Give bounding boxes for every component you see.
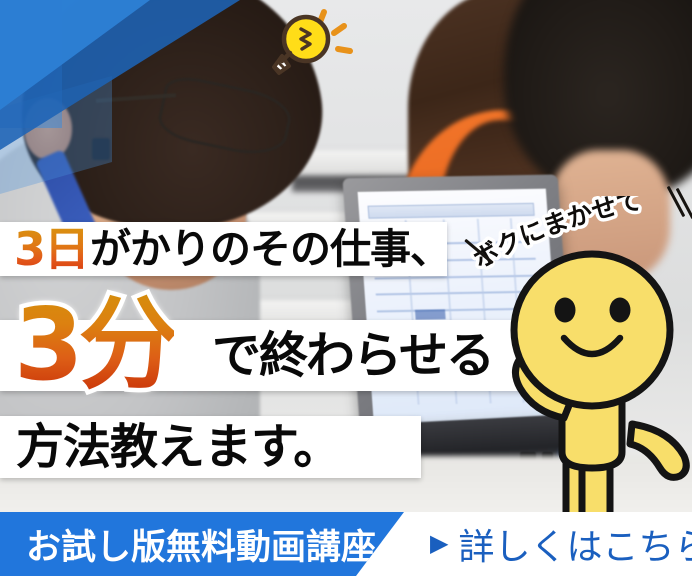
spreadsheet-selected-cell bbox=[415, 309, 446, 319]
headline-line-3: 方法教えます。 bbox=[0, 416, 421, 478]
spreadsheet-row bbox=[376, 291, 538, 296]
cta-bar: お試し版無料動画講座 ▶ 詳しくはこちら bbox=[0, 512, 692, 576]
lightbulb-icon bbox=[258, 6, 354, 82]
details-link[interactable]: ▶ 詳しくはこちら bbox=[404, 512, 692, 576]
headline-line-1: 3日 がかりのその仕事、 bbox=[0, 222, 447, 276]
corner-accent-shape-1 bbox=[0, 0, 150, 110]
headline-1-accent: 3日 bbox=[14, 226, 88, 272]
photo-foreground-neck bbox=[550, 150, 670, 280]
spreadsheet-header-row bbox=[368, 203, 535, 219]
headline-3-text: 方法教えます。 bbox=[16, 423, 340, 471]
headline-1-text: がかりのその仕事、 bbox=[90, 229, 450, 270]
headline-2-text: で終わらせる bbox=[212, 331, 493, 380]
headline-line-2: で終わらせる bbox=[0, 320, 527, 391]
details-link-label: 詳しくはこちら bbox=[458, 518, 692, 570]
free-trial-course-label: お試し版無料動画講座 bbox=[26, 519, 376, 570]
free-trial-course-button[interactable]: お試し版無料動画講座 bbox=[0, 512, 404, 576]
spreadsheet-row bbox=[377, 308, 539, 313]
play-triangle-icon: ▶ bbox=[430, 532, 448, 556]
advertisement-banner: ボクにまかせて ボクにまかせて bbox=[0, 0, 692, 576]
